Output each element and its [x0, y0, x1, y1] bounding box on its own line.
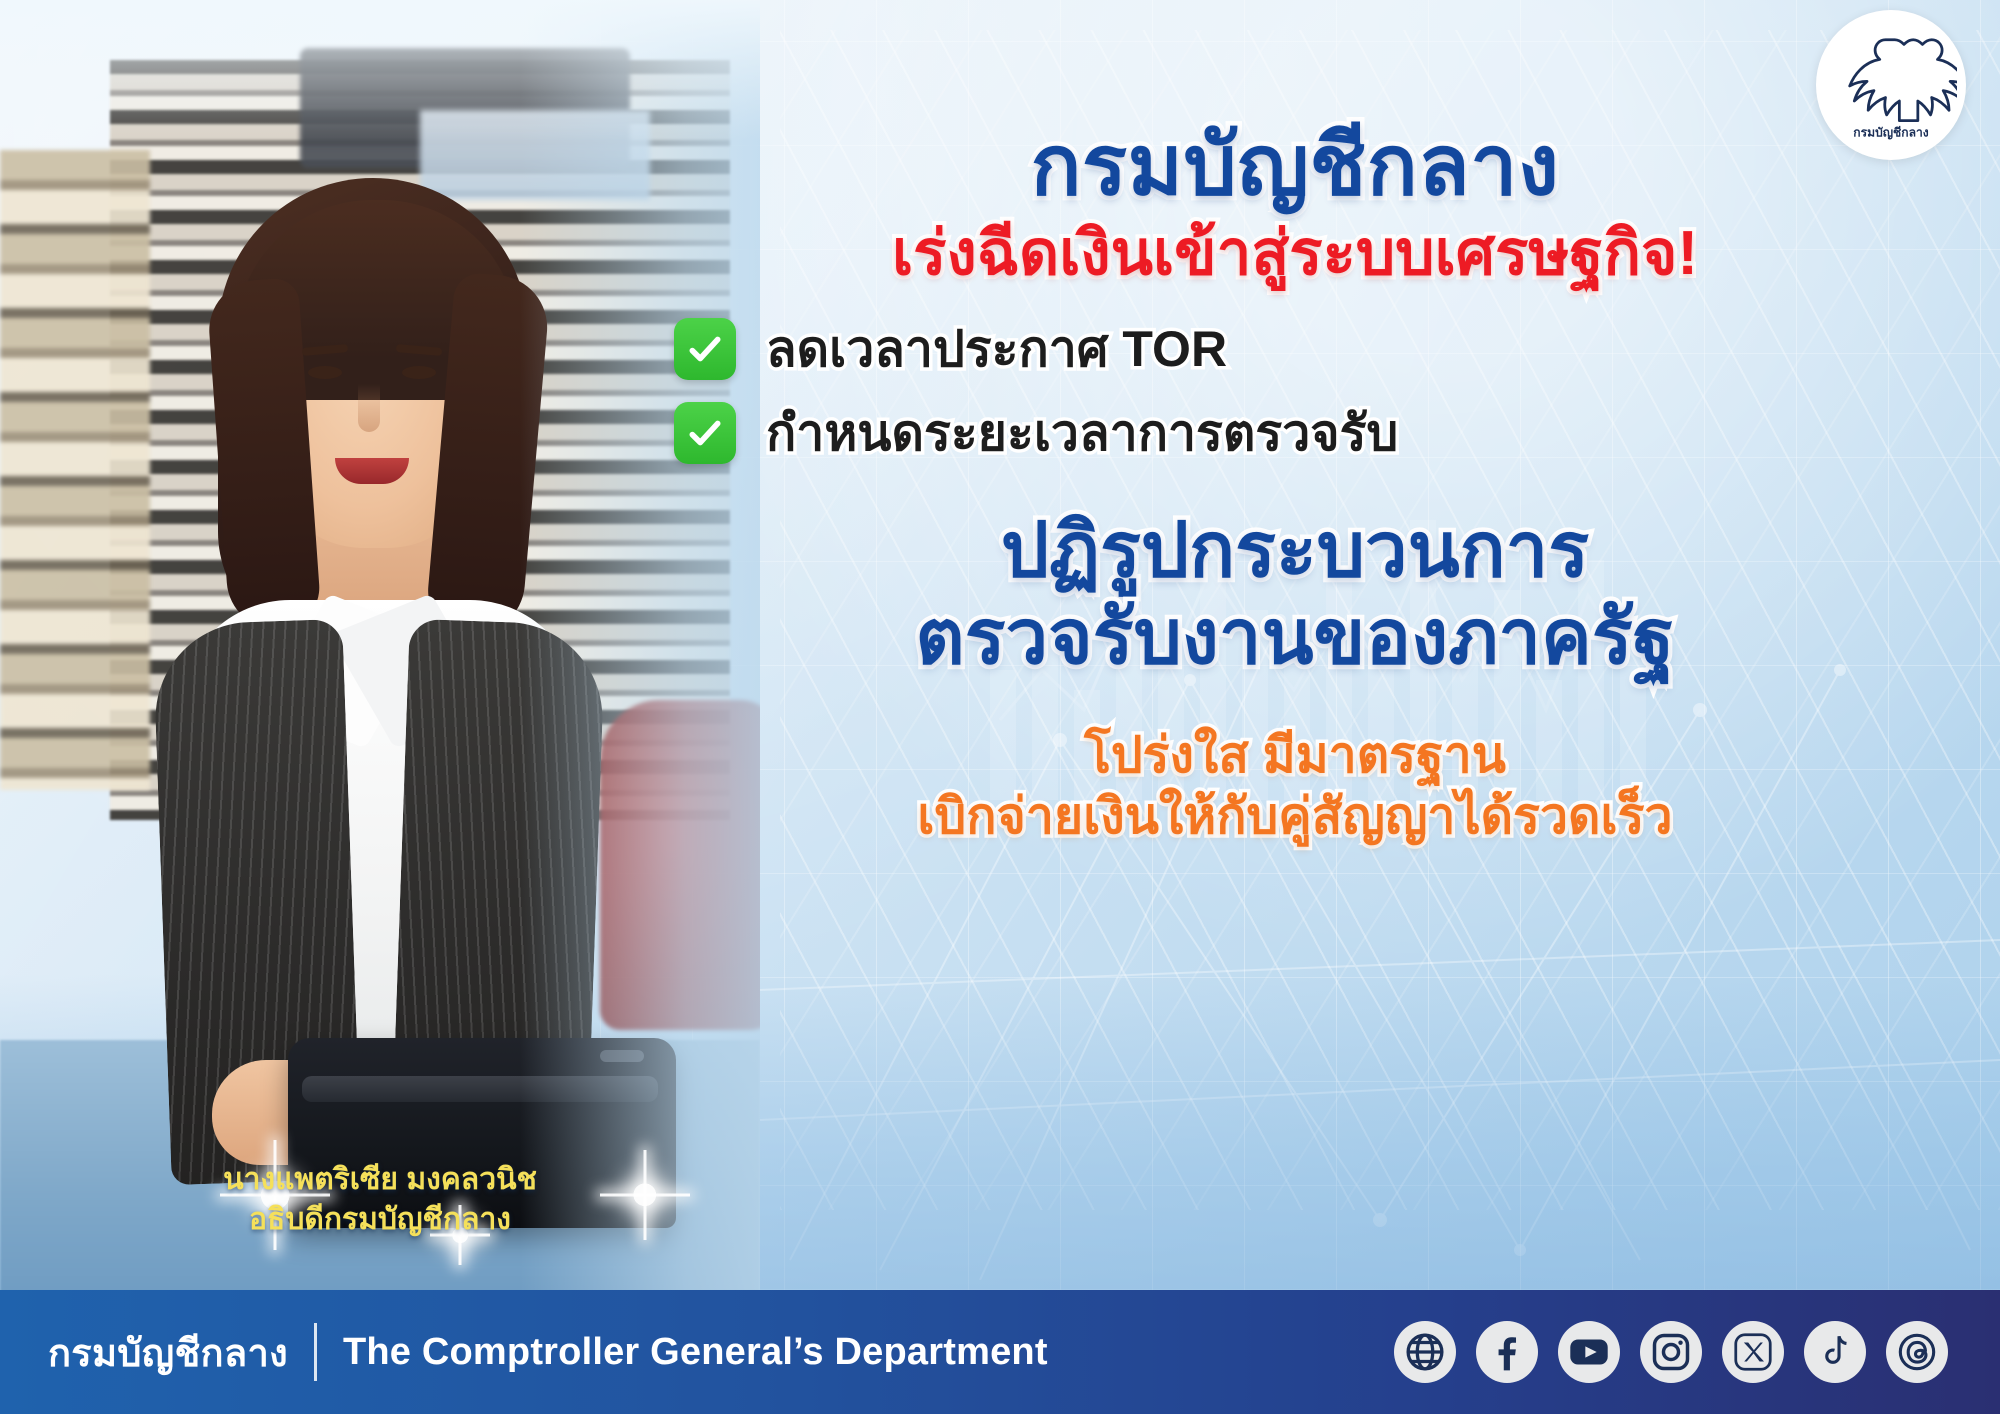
footer-branding: กรมบัญชีกลาง The Comptroller General’s D…: [0, 1322, 1048, 1383]
eye-right: [402, 366, 436, 379]
infographic-poster: กรมบัญชีกลาง กรมบัญชีกลาง เร่งฉีดเงินเข้…: [0, 0, 2000, 1414]
tagline-line-1: โปร่งใส มีมาตรฐาน: [1084, 727, 1506, 783]
list-item: ลดเวลาประกาศ TOR: [674, 318, 1950, 380]
headline-line-1: ปฏิรูปกระบวนการ: [1001, 508, 1589, 593]
headline-line-2: ตรวจรับงานของภาครัฐ: [640, 595, 1950, 682]
person-name: นางแพตริเซีย มงคลวนิช: [120, 1160, 640, 1200]
x-twitter-icon[interactable]: [1722, 1321, 1784, 1383]
footer-bar: กรมบัญชีกลาง The Comptroller General’s D…: [0, 1290, 2000, 1414]
page-title: กรมบัญชีกลาง: [640, 120, 1950, 211]
tiktok-icon[interactable]: [1804, 1321, 1866, 1383]
checklist-label-1: ลดเวลาประกาศ TOR: [766, 322, 1227, 377]
globe-icon[interactable]: [1394, 1321, 1456, 1383]
content-column: กรมบัญชีกลาง เร่งฉีดเงินเข้าสู่ระบบเศรษฐ…: [640, 120, 1950, 847]
eye-left: [308, 366, 342, 379]
page-subtitle: เร่งฉีดเงินเข้าสู่ระบบเศรษฐกิจ!: [640, 219, 1950, 288]
check-icon: [674, 402, 736, 464]
footer-divider: [314, 1323, 317, 1381]
tagline-line-2: เบิกจ่ายเงินให้กับคู่สัญญาได้รวดเร็ว: [640, 786, 1950, 847]
youtube-icon[interactable]: [1558, 1321, 1620, 1383]
instagram-icon[interactable]: [1640, 1321, 1702, 1383]
social-links: [1394, 1321, 2000, 1383]
list-item: กำหนดระยะเวลาการตรวจรับ: [674, 402, 1950, 464]
facebook-icon[interactable]: [1476, 1321, 1538, 1383]
footer-english-name: The Comptroller General’s Department: [343, 1331, 1048, 1374]
benefits-checklist: ลดเวลาประกาศ TOR กำหนดระยะเวลาการตรวจรับ: [640, 318, 1950, 464]
check-icon: [674, 318, 736, 380]
footer-thai-name: กรมบัญชีกลาง: [48, 1322, 288, 1383]
nose: [358, 384, 380, 432]
person-position: อธิบดีกรมบัญชีกลาง: [120, 1200, 640, 1240]
tagline-block: โปร่งใส มีมาตรฐาน เบิกจ่ายเงินให้กับคู่ส…: [640, 725, 1950, 847]
headline-block: ปฏิรูปกระบวนการ ตรวจรับงานของภาครัฐ: [640, 508, 1950, 681]
photo-top-fade: [0, 0, 760, 140]
checklist-label-2: กำหนดระยะเวลาการตรวจรับ: [766, 406, 1398, 461]
person-caption: นางแพตริเซีย มงคลวนิช อธิบดีกรมบัญชีกลาง: [120, 1160, 640, 1239]
threads-icon[interactable]: [1886, 1321, 1948, 1383]
